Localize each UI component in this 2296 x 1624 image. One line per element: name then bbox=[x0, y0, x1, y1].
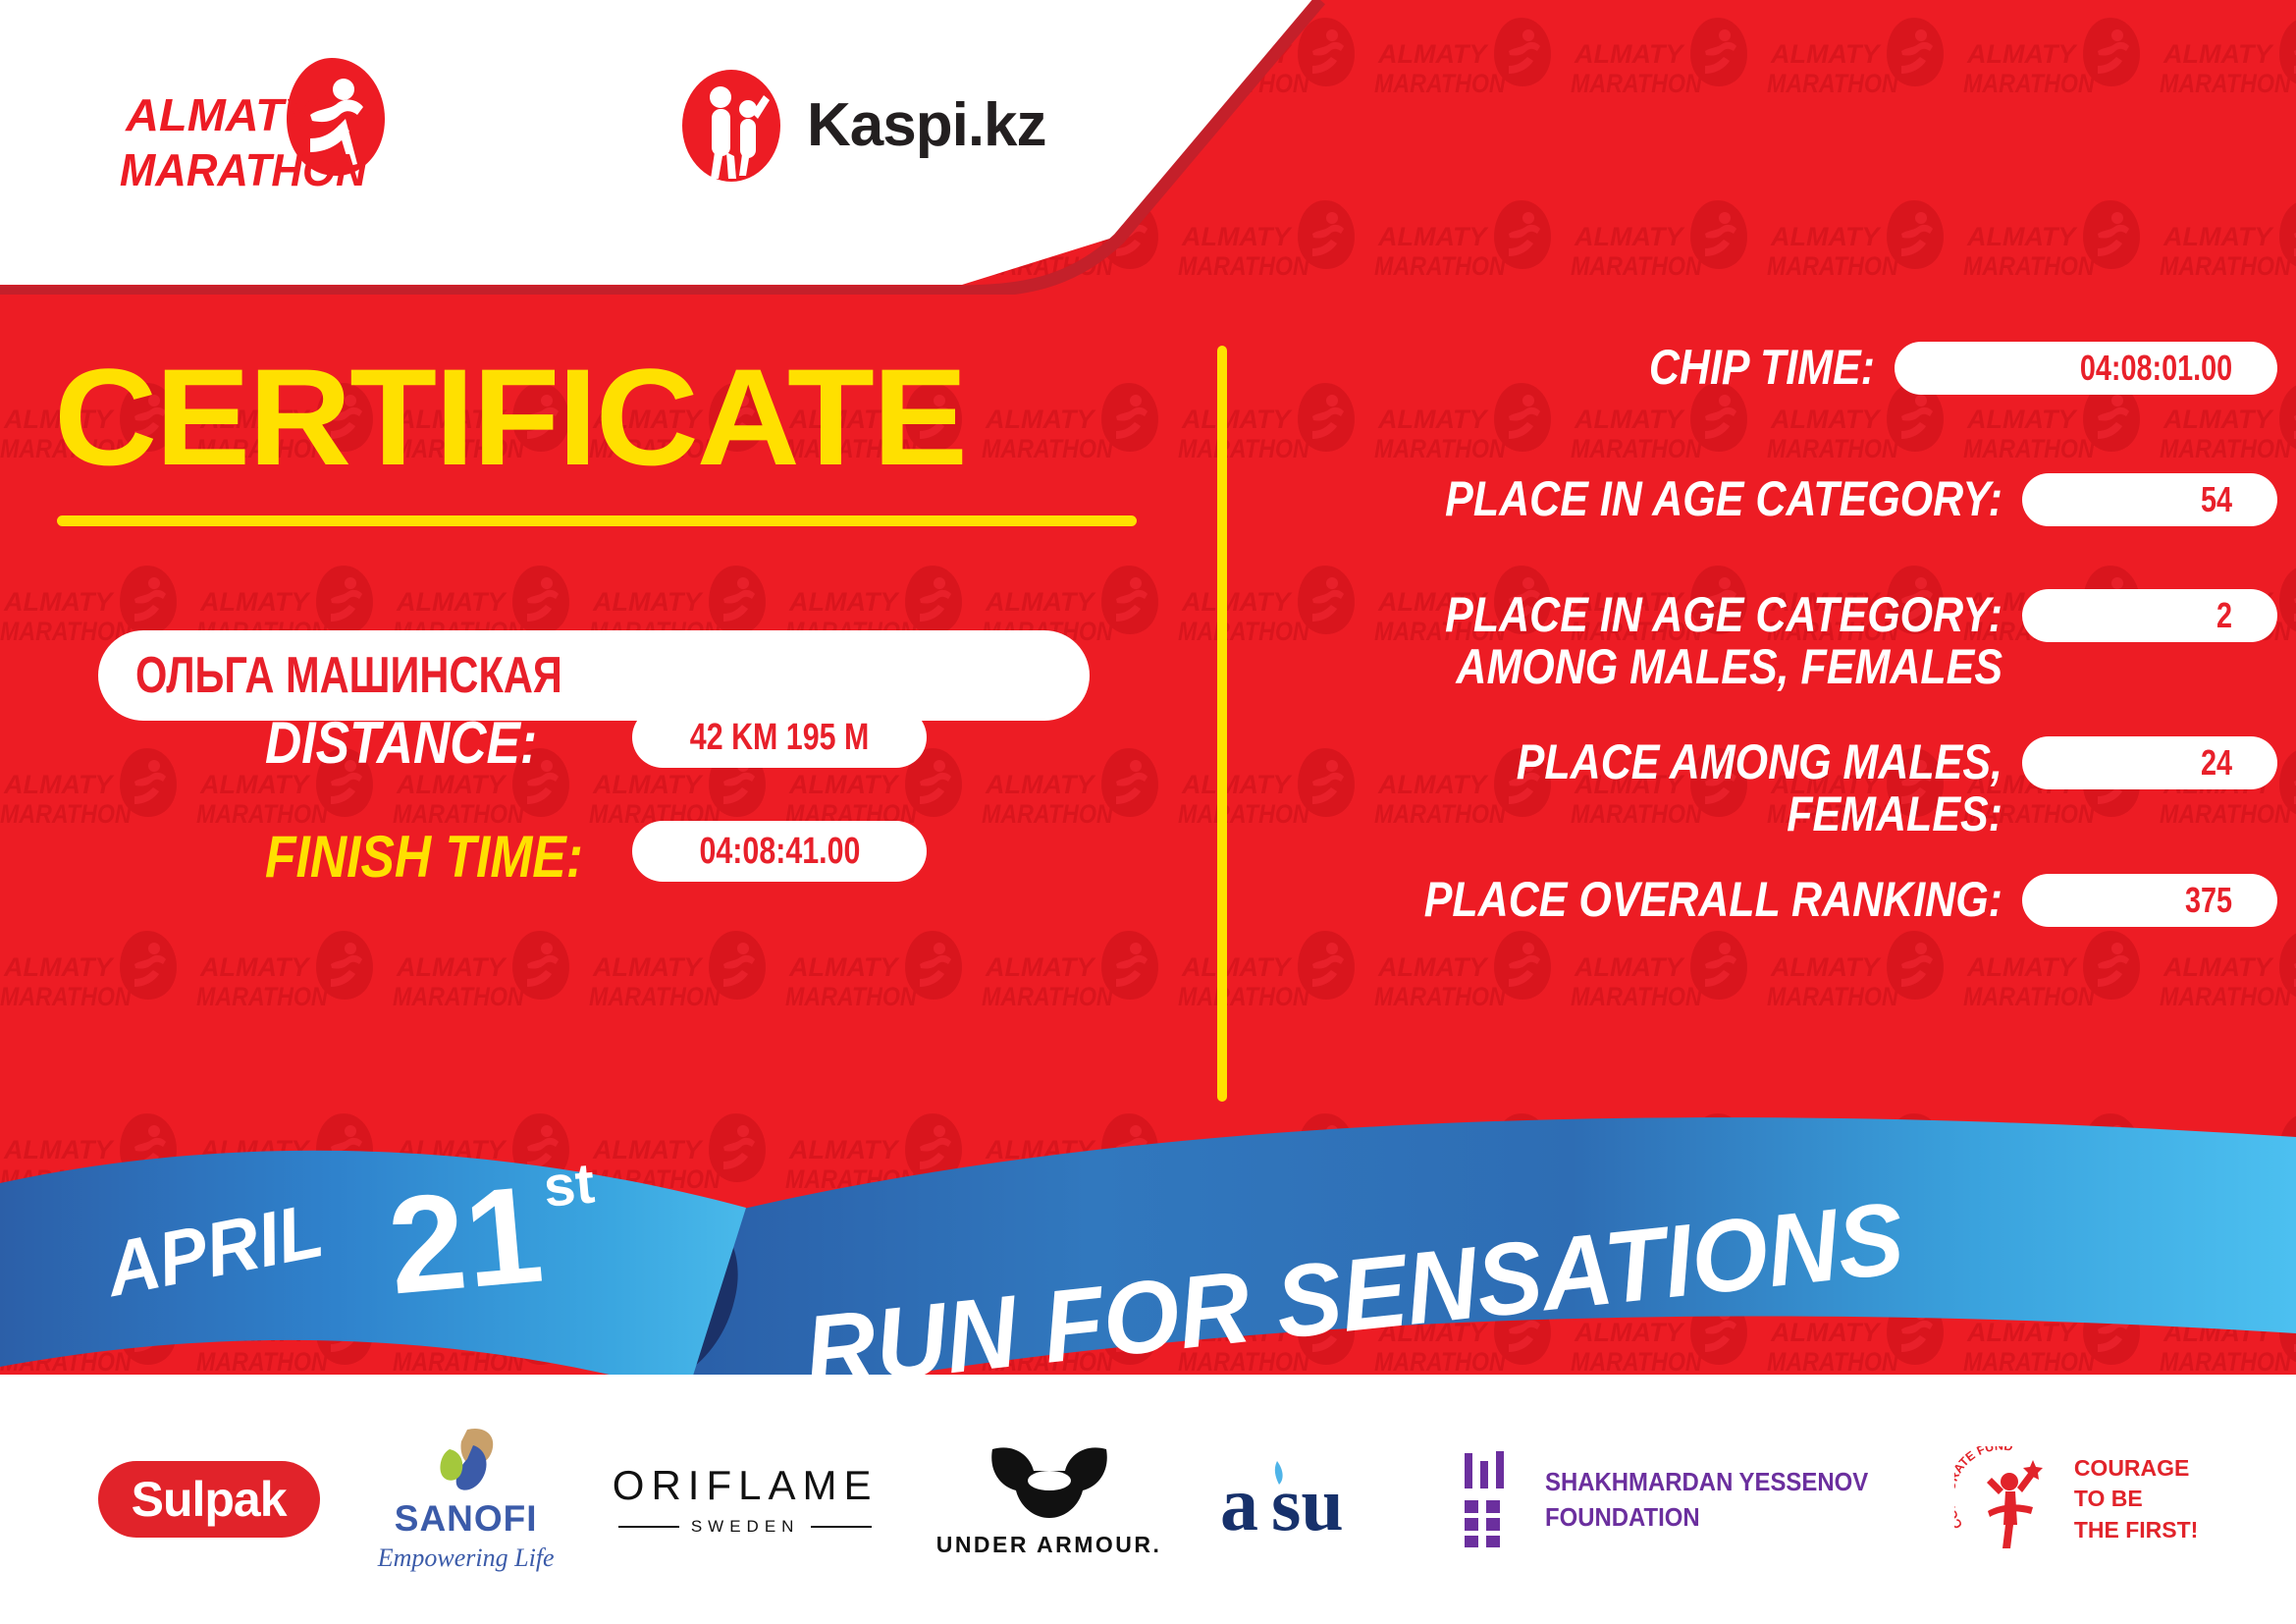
result-value: 24 bbox=[2201, 742, 2232, 784]
courage-lockup: CORPORATE FUND COURAGE TO BE THE FIRST bbox=[1954, 1446, 2199, 1552]
logo-text-almaty: ALMATY bbox=[125, 89, 318, 139]
svg-text:su: su bbox=[1271, 1461, 1344, 1543]
result-value: 375 bbox=[2185, 880, 2232, 921]
sponsor-asu: a su bbox=[1220, 1455, 1403, 1543]
result-row-place-among-males-females: PLACE AMONG MALES, FEMALES: 24 bbox=[1286, 736, 2277, 840]
kaspi-mark-icon bbox=[677, 68, 785, 184]
column-divider bbox=[1217, 346, 1227, 1102]
yessenov-mark-icon bbox=[1461, 1451, 1525, 1547]
yessenov-wordmark: SHAKHMARDAN YESSENOV FOUNDATION bbox=[1545, 1464, 1868, 1536]
sanofi-tagline: Empowering Life bbox=[378, 1543, 555, 1573]
result-value: 04:08:01.00 bbox=[2080, 348, 2232, 389]
sanofi-wordmark: SANOFI bbox=[395, 1498, 538, 1540]
finish-time-value: 04:08:41.00 bbox=[699, 831, 860, 873]
almaty-marathon-logo: ALMATY MARATHON bbox=[118, 54, 442, 211]
ribbon-day-suffix: st bbox=[541, 1152, 597, 1219]
courage-line-1: COURAGE bbox=[2074, 1453, 2199, 1484]
page-title: CERTIFICATE bbox=[54, 349, 966, 486]
result-value-field: 375 bbox=[2022, 874, 2277, 927]
result-label: PLACE IN AGE CATEGORY: AMONG MALES, FEMA… bbox=[1386, 589, 2002, 693]
sponsor-row: Sulpak SANOFI Empowering Life ORIFLAME S… bbox=[0, 1375, 2296, 1624]
yessenov-line-1: SHAKHMARDAN YESSENOV bbox=[1545, 1464, 1868, 1499]
ribbon-day: 21 bbox=[383, 1157, 549, 1324]
rule-right bbox=[811, 1526, 872, 1528]
right-column: CHIP TIME: 04:08:01.00 PLACE IN AGE CATE… bbox=[1286, 324, 2277, 1110]
svg-text:a: a bbox=[1220, 1461, 1258, 1543]
kaspi-wordmark: Kaspi.kz bbox=[807, 95, 1046, 156]
result-row-place-age-category-among: PLACE IN AGE CATEGORY: AMONG MALES, FEMA… bbox=[1286, 589, 2277, 693]
runner-name-value: ОЛЬГА МАШИНСКАЯ bbox=[135, 646, 562, 705]
result-label: PLACE OVERALL RANKING: bbox=[1386, 874, 2002, 926]
distance-value: 42 KM 195 M bbox=[690, 717, 869, 759]
oriflame-sub: SWEDEN bbox=[618, 1517, 873, 1537]
kaspi-logo: Kaspi.kz bbox=[677, 64, 1060, 187]
sulpak-badge: Sulpak bbox=[98, 1461, 320, 1538]
courage-fund-mark-icon: CORPORATE FUND bbox=[1954, 1446, 2062, 1552]
result-row-place-overall-ranking: PLACE OVERALL RANKING: 375 bbox=[1286, 874, 2277, 927]
sponsor-courage-fund: CORPORATE FUND COURAGE TO BE THE FIRST bbox=[1954, 1446, 2199, 1552]
logo-text-marathon: MARATHON bbox=[120, 144, 368, 195]
sponsor-under-armour: UNDER ARMOUR. bbox=[936, 1441, 1162, 1558]
distance-field: 42 KM 195 M bbox=[632, 707, 927, 768]
left-column: CERTIFICATE ОЛЬГА МАШИНСКАЯ DISTANCE: 42… bbox=[0, 324, 1158, 1110]
finish-time-label: FINISH TIME: bbox=[265, 823, 583, 891]
result-value-field: 04:08:01.00 bbox=[1895, 342, 2277, 395]
result-value-field: 2 bbox=[2022, 589, 2277, 642]
result-value-field: 54 bbox=[2022, 473, 2277, 526]
rule-left bbox=[618, 1526, 679, 1528]
sanofi-mark-icon bbox=[424, 1426, 508, 1494]
courage-line-2: TO BE bbox=[2074, 1484, 2199, 1514]
under-armour-mark-icon bbox=[985, 1441, 1114, 1524]
oriflame-tagline: SWEDEN bbox=[691, 1517, 800, 1537]
runner-name-field: ОЛЬГА МАШИНСКАЯ bbox=[98, 630, 1090, 721]
courage-wordmark: COURAGE TO BE THE FIRST! bbox=[2074, 1453, 2199, 1544]
title-underline bbox=[57, 515, 1137, 526]
finish-time-field: 04:08:41.00 bbox=[632, 821, 927, 882]
result-label: PLACE IN AGE CATEGORY: bbox=[1386, 473, 2002, 525]
sponsor-footer: Sulpak SANOFI Empowering Life ORIFLAME S… bbox=[0, 1375, 2296, 1624]
sponsor-oriflame: ORIFLAME SWEDEN bbox=[613, 1462, 879, 1537]
result-row-place-age-category: PLACE IN AGE CATEGORY: 54 bbox=[1286, 473, 2277, 526]
distance-label: DISTANCE: bbox=[265, 709, 537, 777]
sponsor-sulpak: Sulpak bbox=[98, 1461, 320, 1538]
result-row-chip-time: CHIP TIME: 04:08:01.00 bbox=[1286, 342, 2277, 395]
oriflame-wordmark: ORIFLAME bbox=[613, 1462, 879, 1509]
result-label: CHIP TIME: bbox=[1368, 342, 1875, 394]
sulpak-wordmark: Sulpak bbox=[132, 1472, 287, 1527]
result-label: PLACE AMONG MALES, FEMALES: bbox=[1386, 736, 2002, 840]
result-value: 2 bbox=[2216, 595, 2232, 636]
result-value-field: 24 bbox=[2022, 736, 2277, 789]
under-armour-wordmark: UNDER ARMOUR. bbox=[936, 1532, 1162, 1558]
yessenov-line-2: FOUNDATION bbox=[1545, 1499, 1868, 1535]
sponsor-yessenov-foundation: SHAKHMARDAN YESSENOV FOUNDATION bbox=[1461, 1451, 1896, 1547]
certificate-canvas: ALMATY MARATHON Kaspi.kz CERTIFICATE ОЛЬ… bbox=[0, 0, 2296, 1624]
asu-wordmark-icon: a su bbox=[1220, 1455, 1403, 1543]
sponsor-sanofi: SANOFI Empowering Life bbox=[378, 1426, 555, 1573]
result-value: 54 bbox=[2201, 479, 2232, 520]
courage-line-3: THE FIRST! bbox=[2074, 1515, 2199, 1545]
yessenov-lockup: SHAKHMARDAN YESSENOV FOUNDATION bbox=[1461, 1451, 1896, 1547]
